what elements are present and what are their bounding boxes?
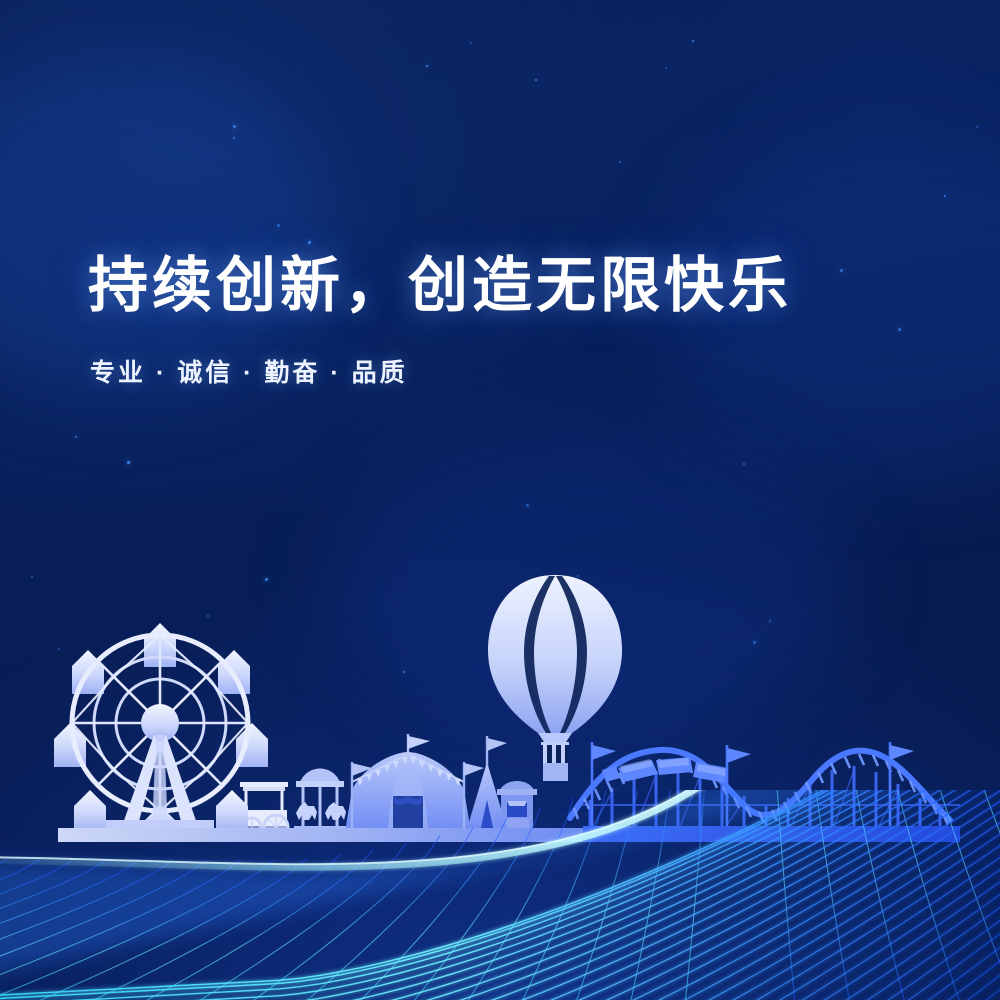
mesh-line-radial: [296, 827, 474, 1000]
mesh-line-horizontal: [0, 930, 1000, 1000]
mesh-line-horizontal: [0, 697, 1000, 1000]
mesh-line-horizontal: [0, 674, 1000, 1000]
mesh-line-horizontal: [0, 690, 1000, 1000]
mesh-line-radial: [407, 808, 540, 1000]
banner-canvas: 持续创新，创造无限快乐 专业 · 诚信 · 勤奋 · 品质: [0, 0, 1000, 1000]
wave-mesh: [0, 0, 1000, 1000]
mesh-line-horizontal: [0, 679, 1000, 1000]
mesh-line-radial: [907, 658, 1000, 1000]
mesh-line-horizontal: [0, 958, 1000, 1000]
mesh-line-radial: [873, 675, 962, 1000]
